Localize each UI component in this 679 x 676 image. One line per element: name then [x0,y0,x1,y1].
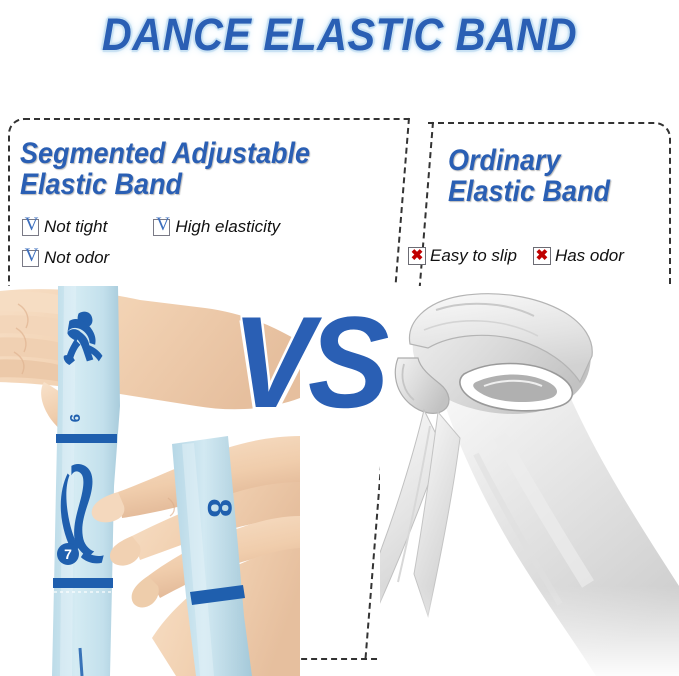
feature-label: Easy to slip [430,246,517,266]
checkbox-crossed-icon: ✖ [408,247,426,265]
checkbox-checked-icon: V [22,219,39,236]
svg-text:8: 8 [200,499,238,518]
right-feature-row-1: ✖ Easy to slip ✖ Has odor [408,246,624,266]
feature-label: Has odor [555,246,624,266]
left-panel-heading: Segmented Adjustable Elastic Band [20,139,380,201]
feature-label: Not tight [44,217,107,237]
feature-high-elasticity: V High elasticity [153,217,280,237]
checkbox-checked-icon: V [22,250,39,267]
check-v-glyph: V [22,214,41,236]
checkbox-checked-icon: V [153,219,170,236]
feature-not-odor: V Not odor [22,248,109,268]
feature-label: High elasticity [175,217,280,237]
svg-text:9: 9 [66,414,83,422]
check-v-glyph: V [153,214,172,236]
right-product-photo [380,286,679,676]
left-heading-line-2: Elastic Band [20,170,380,201]
svg-text:7: 7 [64,546,72,562]
left-feature-row-1: V Not tight V High elasticity [22,217,280,237]
left-feature-row-2: V Not odor [22,248,109,268]
checkbox-crossed-icon: ✖ [533,247,551,265]
versus-badge: VS [232,297,384,427]
left-heading-line-1: Segmented Adjustable [20,139,380,170]
right-heading-line-1: Ordinary [448,146,679,177]
feature-easy-to-slip: ✖ Easy to slip [408,246,517,266]
right-panel-heading: Ordinary Elastic Band [448,146,679,208]
feature-has-odor: ✖ Has odor [533,246,624,266]
check-v-glyph: V [22,245,41,267]
feature-label: Not odor [44,248,109,268]
feature-not-tight: V Not tight [22,217,107,237]
page-title: DANCE ELASTIC BAND [27,0,652,70]
cross-x-glyph: ✖ [409,246,425,264]
cross-x-glyph: ✖ [534,246,550,264]
right-heading-line-2: Elastic Band [448,177,679,208]
